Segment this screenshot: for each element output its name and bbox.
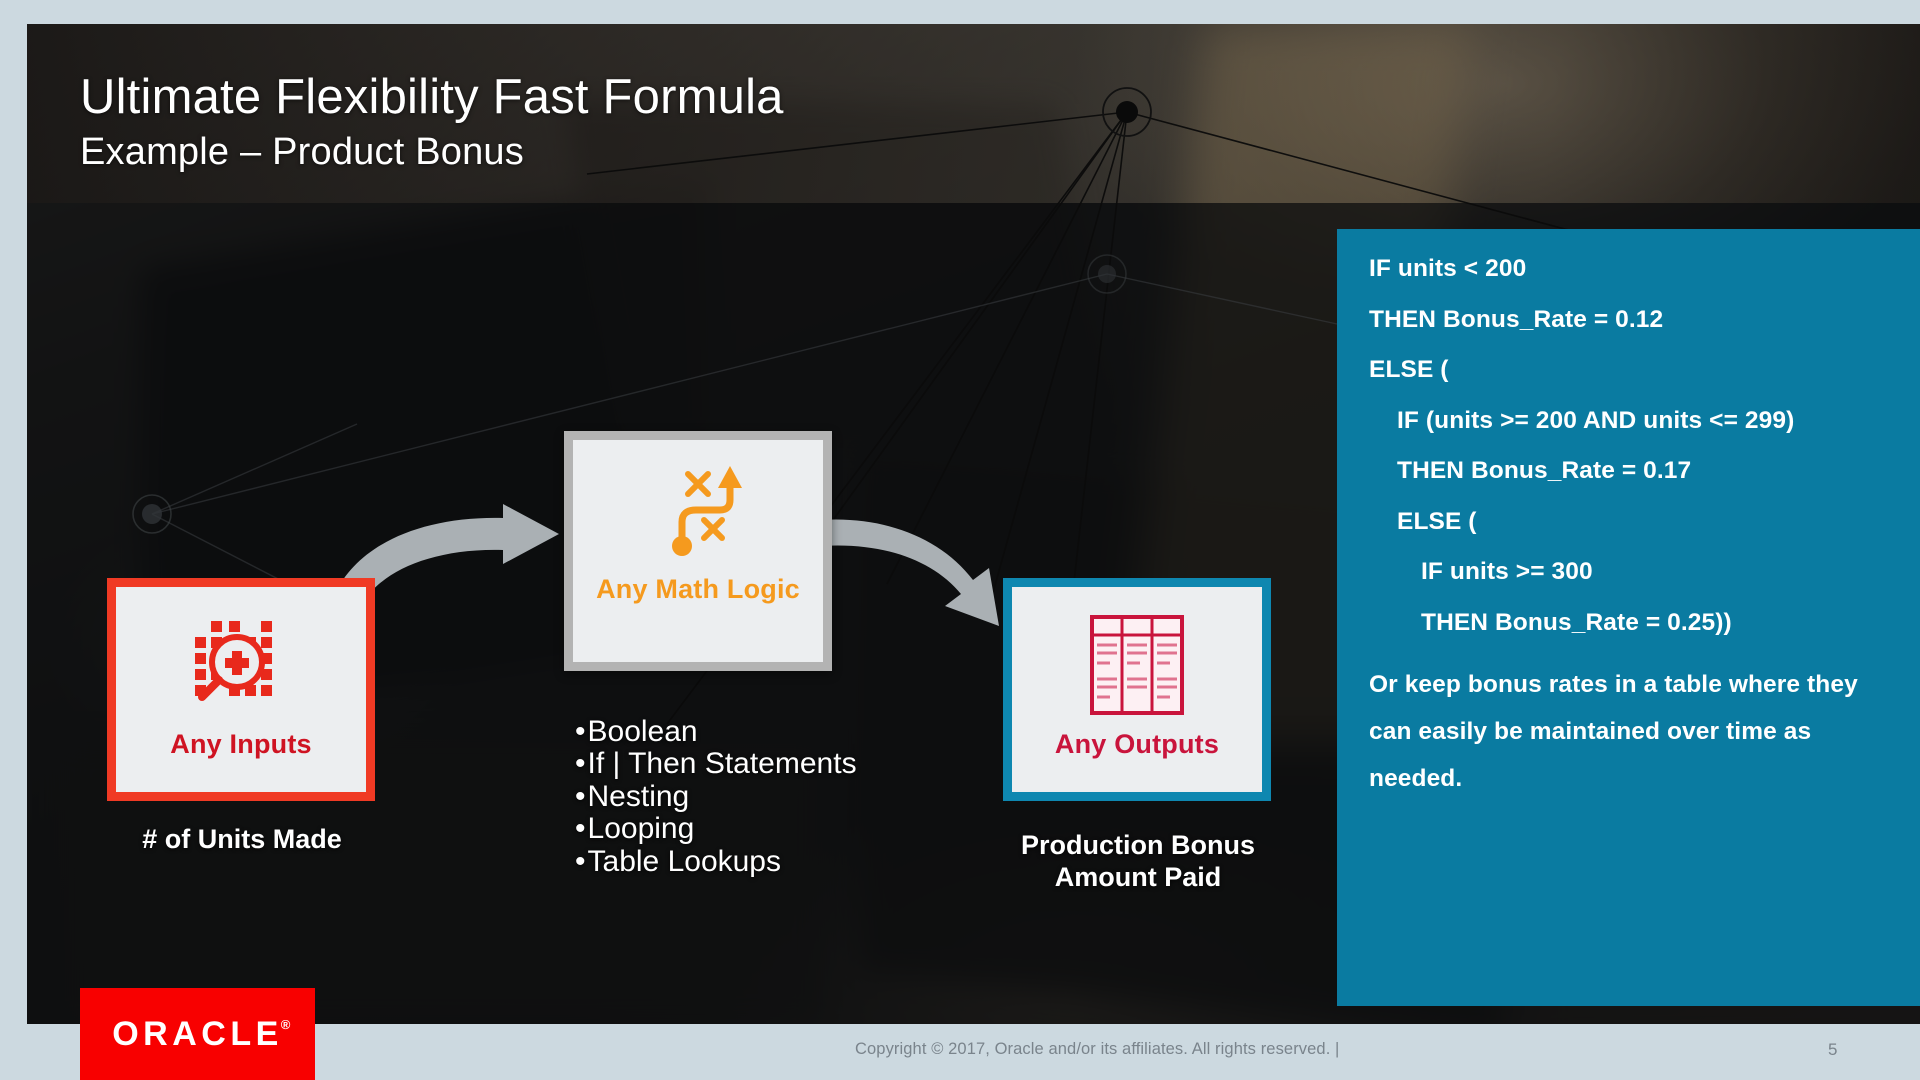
formula-line: IF (units >= 200 AND units <= 299) [1369, 409, 1890, 434]
formula-line: ELSE ( [1369, 358, 1890, 383]
list-item: Looping [575, 813, 995, 845]
card-label-any-inputs: Any Inputs [170, 729, 312, 760]
copyright-text: Copyright © 2017, Oracle and/or its affi… [855, 1040, 1339, 1059]
slide-canvas: Ultimate Flexibility Fast Formula Exampl… [27, 24, 1920, 1024]
caption-line-1: Production Bonus [973, 830, 1303, 862]
slide-title: Ultimate Flexibility Fast Formula [80, 72, 784, 124]
card-any-outputs[interactable]: Any Outputs [1003, 578, 1271, 801]
caption-production-bonus: Production Bonus Amount Paid [973, 830, 1303, 894]
list-item: Boolean [575, 716, 995, 748]
list-item: Table Lookups [575, 846, 995, 878]
title-block: Ultimate Flexibility Fast Formula Exampl… [80, 72, 784, 174]
formula-panel-note: Or keep bonus rates in a table where the… [1369, 661, 1890, 802]
card-any-math-logic[interactable]: Any Math Logic [564, 431, 832, 671]
slide-subtitle: Example – Product Bonus [80, 131, 784, 174]
formula-line: THEN Bonus_Rate = 0.25)) [1369, 611, 1890, 636]
list-item: Nesting [575, 781, 995, 813]
oracle-logo: ORACLE® [80, 988, 315, 1080]
list-item: If | Then Statements [575, 748, 995, 780]
card-label-any-math-logic: Any Math Logic [596, 574, 800, 605]
caption-line-2: Amount Paid [973, 862, 1303, 894]
page-number: 5 [1828, 1040, 1837, 1060]
formula-panel: IF units < 200THEN Bonus_Rate = 0.12ELSE… [1337, 229, 1920, 1006]
formula-line: IF units < 200 [1369, 257, 1890, 282]
formula-line: THEN Bonus_Rate = 0.12 [1369, 308, 1890, 333]
math-capability-list: BooleanIf | Then StatementsNestingLoopin… [575, 716, 995, 878]
oracle-wordmark: ORACLE® [112, 1015, 283, 1054]
card-label-any-outputs: Any Outputs [1055, 729, 1219, 760]
caption-units-made: # of Units Made [87, 824, 397, 856]
path-strategy-icon [646, 458, 750, 566]
report-document-icon [1086, 609, 1188, 721]
magnifier-plus-grid-icon [185, 609, 297, 721]
card-any-inputs[interactable]: Any Inputs [107, 578, 375, 801]
formula-code-block: IF units < 200THEN Bonus_Rate = 0.12ELSE… [1369, 257, 1890, 635]
formula-line: ELSE ( [1369, 510, 1890, 535]
registered-trademark-icon: ® [281, 1017, 295, 1032]
formula-line: IF units >= 300 [1369, 560, 1890, 585]
formula-line: THEN Bonus_Rate = 0.17 [1369, 459, 1890, 484]
